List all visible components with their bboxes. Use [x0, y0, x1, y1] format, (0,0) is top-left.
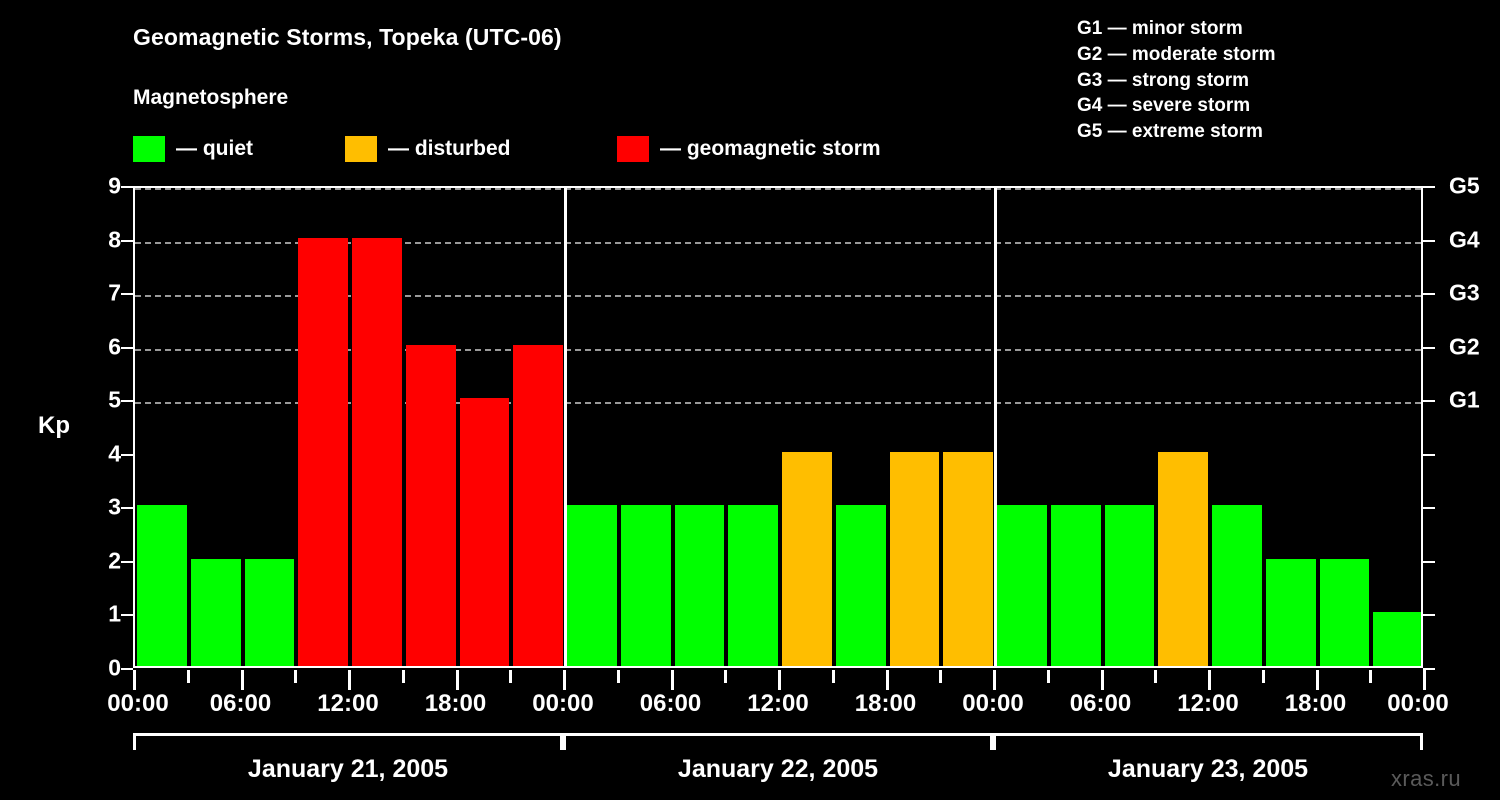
bar-day2-slot4 — [728, 505, 778, 666]
legend-swatch-quiet — [133, 136, 165, 162]
x-tick-mark-19 — [1154, 670, 1157, 683]
bar-day3-slot4 — [1158, 452, 1208, 666]
bar-day3-slot1 — [997, 505, 1047, 666]
chart-subtitle: Magnetosphere — [133, 86, 288, 110]
bar-day3-slot5 — [1212, 505, 1262, 666]
bar-day3-slot6 — [1266, 559, 1316, 666]
day-label-1: January 21, 2005 — [248, 755, 448, 784]
y-tick-label-8: 8 — [85, 226, 121, 253]
y-axis-title: Kp — [38, 412, 70, 440]
x-tick-label-11: 18:00 — [1285, 690, 1346, 718]
plot-inner — [135, 188, 1421, 666]
g-axis-label-G2: G2 — [1449, 333, 1480, 360]
bar-day1-slot2 — [191, 559, 241, 666]
chart-root: Geomagnetic Storms, Topeka (UTC-06) Magn… — [0, 0, 1500, 800]
day-separator-2 — [994, 188, 997, 666]
x-tick-mark-16 — [993, 670, 996, 690]
legend-item-1: — disturbed — [345, 134, 511, 164]
day-bracket-2 — [563, 733, 993, 750]
x-tick-mark-11 — [724, 670, 727, 683]
bar-day2-slot3 — [675, 505, 725, 666]
y-tick-label-3: 3 — [85, 494, 121, 521]
y-tick-mark-8 — [121, 240, 133, 242]
g-scale-row-2: G2 — moderate storm — [1077, 42, 1276, 68]
y-tick-mark-7 — [121, 293, 133, 295]
x-tick-mark-1 — [187, 670, 190, 683]
x-tick-mark-13 — [832, 670, 835, 683]
x-tick-mark-20 — [1208, 670, 1211, 690]
bar-day1-slot1 — [137, 505, 187, 666]
x-tick-label-10: 12:00 — [1177, 690, 1238, 718]
y-tick-mark-2 — [121, 561, 133, 563]
x-tick-mark-21 — [1262, 670, 1265, 683]
legend-item-2: — geomagnetic storm — [617, 134, 881, 164]
g-axis-tick-mark-kp-5 — [1423, 400, 1435, 402]
legend-label-1: — disturbed — [388, 137, 511, 161]
g-axis-label-G1: G1 — [1449, 387, 1480, 414]
legend-label-0: — quiet — [176, 137, 253, 161]
bar-day2-slot7 — [890, 452, 940, 666]
x-tick-label-12: 00:00 — [1387, 690, 1448, 718]
g-axis-tick-mark-kp-9 — [1423, 186, 1435, 188]
x-tick-label-6: 12:00 — [747, 690, 808, 718]
bar-day3-slot2 — [1051, 505, 1101, 666]
g-scale-row-1: G1 — minor storm — [1077, 16, 1276, 42]
x-tick-label-8: 00:00 — [962, 690, 1023, 718]
bar-day1-slot4 — [298, 238, 348, 666]
y-tick-mark-9 — [121, 186, 133, 188]
g-axis-tick-mark-kp-2 — [1423, 561, 1435, 563]
x-tick-mark-3 — [294, 670, 297, 683]
chart-title: Geomagnetic Storms, Topeka (UTC-06) — [133, 24, 562, 51]
bar-day2-slot2 — [621, 505, 671, 666]
g-scale-row-5: G5 — extreme storm — [1077, 119, 1276, 145]
day-bracket-3 — [993, 733, 1423, 750]
y-tick-label-5: 5 — [85, 387, 121, 414]
y-axis-tick-labels: 0123456789 — [85, 186, 121, 668]
g-axis-tick-mark-kp-3 — [1423, 507, 1435, 509]
bar-day3-slot7 — [1320, 559, 1370, 666]
y-tick-mark-6 — [121, 347, 133, 349]
y-tick-mark-5 — [121, 400, 133, 402]
legend-swatch-storm — [617, 136, 649, 162]
x-tick-mark-4 — [348, 670, 351, 690]
x-tick-mark-0 — [133, 670, 136, 690]
legend-label-2: — geomagnetic storm — [660, 137, 881, 161]
day-bracket-1 — [133, 733, 563, 750]
y-tick-mark-1 — [121, 614, 133, 616]
x-tick-mark-6 — [456, 670, 459, 690]
bar-day2-slot1 — [567, 505, 617, 666]
x-tick-label-9: 06:00 — [1070, 690, 1131, 718]
y-tick-label-9: 9 — [85, 173, 121, 200]
x-tick-mark-15 — [939, 670, 942, 683]
bar-day2-slot8 — [943, 452, 993, 666]
bar-day3-slot8 — [1373, 612, 1421, 666]
bar-day1-slot8 — [513, 345, 563, 666]
x-tick-mark-2 — [241, 670, 244, 690]
g-axis-label-G5: G5 — [1449, 173, 1480, 200]
x-tick-label-2: 12:00 — [317, 690, 378, 718]
x-tick-mark-23 — [1369, 670, 1372, 683]
y-tick-mark-0 — [121, 668, 133, 670]
x-tick-label-1: 06:00 — [210, 690, 271, 718]
y-tick-mark-4 — [121, 454, 133, 456]
watermark: xras.ru — [1391, 766, 1461, 792]
gridline-kp-9 — [135, 188, 1421, 190]
y-tick-label-2: 2 — [85, 547, 121, 574]
legend-swatch-disturbed — [345, 136, 377, 162]
bar-day1-slot7 — [460, 398, 510, 666]
x-tick-mark-24 — [1423, 670, 1426, 690]
g-scale-row-3: G3 — strong storm — [1077, 68, 1276, 94]
day-label-3: January 23, 2005 — [1108, 755, 1308, 784]
y-tick-label-1: 1 — [85, 601, 121, 628]
x-tick-label-0: 00:00 — [107, 690, 168, 718]
g-axis: G1G2G3G4G5 — [1423, 186, 1500, 668]
x-tick-label-7: 18:00 — [855, 690, 916, 718]
x-tick-mark-17 — [1047, 670, 1050, 683]
x-tick-label-4: 00:00 — [532, 690, 593, 718]
bar-day1-slot6 — [406, 345, 456, 666]
g-axis-tick-mark-kp-8 — [1423, 240, 1435, 242]
plot-area — [133, 186, 1423, 668]
x-tick-mark-8 — [563, 670, 566, 690]
x-tick-label-3: 18:00 — [425, 690, 486, 718]
bar-day1-slot5 — [352, 238, 402, 666]
legend-item-0: — quiet — [133, 134, 253, 164]
g-axis-label-G4: G4 — [1449, 226, 1480, 253]
y-tick-label-4: 4 — [85, 440, 121, 467]
g-axis-tick-mark-kp-7 — [1423, 293, 1435, 295]
bar-day2-slot5 — [782, 452, 832, 666]
x-tick-mark-5 — [402, 670, 405, 683]
g-axis-tick-mark-kp-6 — [1423, 347, 1435, 349]
bar-day3-slot3 — [1105, 505, 1155, 666]
bar-day1-slot3 — [245, 559, 295, 666]
day-separator-1 — [564, 188, 567, 666]
y-axis-tick-marks — [121, 186, 133, 668]
g-scale-row-4: G4 — severe storm — [1077, 93, 1276, 119]
g-axis-tick-mark-kp-4 — [1423, 454, 1435, 456]
x-tick-mark-14 — [886, 670, 889, 690]
g-axis-label-G3: G3 — [1449, 280, 1480, 307]
x-tick-mark-9 — [617, 670, 620, 683]
y-tick-label-7: 7 — [85, 280, 121, 307]
x-tick-mark-18 — [1101, 670, 1104, 690]
g-axis-tick-mark-kp-1 — [1423, 614, 1435, 616]
y-tick-label-6: 6 — [85, 333, 121, 360]
x-tick-mark-12 — [778, 670, 781, 690]
day-label-2: January 22, 2005 — [678, 755, 878, 784]
x-tick-mark-10 — [671, 670, 674, 690]
x-tick-mark-22 — [1316, 670, 1319, 690]
x-tick-label-5: 06:00 — [640, 690, 701, 718]
y-tick-label-0: 0 — [85, 655, 121, 682]
bar-day2-slot6 — [836, 505, 886, 666]
x-tick-mark-7 — [509, 670, 512, 683]
y-tick-mark-3 — [121, 507, 133, 509]
g-scale-legend: G1 — minor stormG2 — moderate stormG3 — … — [1077, 16, 1276, 145]
